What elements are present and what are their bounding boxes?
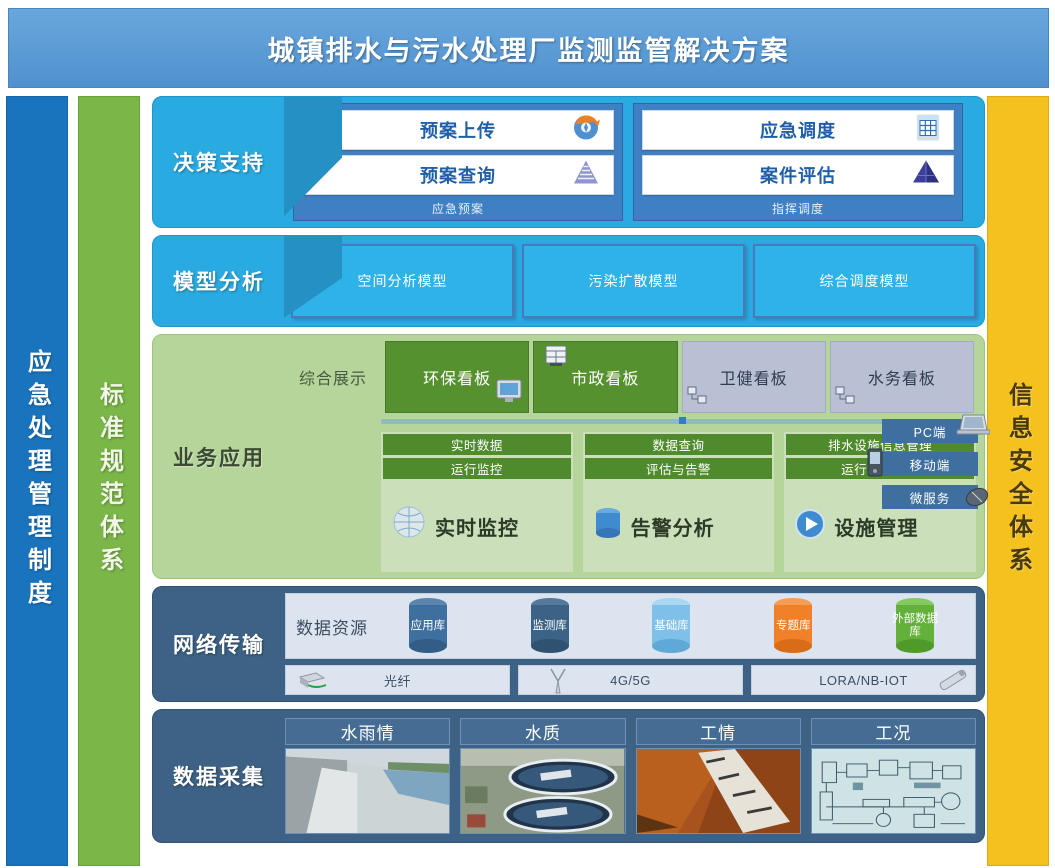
business-chip[interactable]: 评估与告警: [585, 458, 773, 479]
layer-stack: 决策支持 预案上传: [152, 96, 985, 866]
model-item-label: 污染扩散模型: [589, 271, 679, 291]
dashboard-tab-label: 综合展示: [299, 365, 367, 389]
window-icon: [544, 344, 568, 373]
pillar-emergency-management: 应急处理管理制度: [6, 96, 68, 866]
layer-decision-support-label: 决策支持: [153, 147, 285, 177]
database-label: 监测库: [532, 620, 567, 633]
acquisition-card-label: 水雨情: [285, 718, 450, 745]
mouse-icon: [962, 483, 992, 512]
business-card-title: 告警分析: [631, 512, 715, 541]
transport-label: 光纤: [384, 671, 411, 690]
pillar-standard-system: 标准规范体系: [78, 96, 140, 866]
business-chip[interactable]: 运行监控: [383, 458, 571, 479]
decision-group-emergency-plan: 预案上传 预案查询: [293, 103, 623, 221]
dashboard-tab-label: 卫健看板: [720, 365, 788, 389]
globe-icon: [389, 505, 429, 548]
dashboard-tab-label: 市政看板: [571, 365, 639, 389]
business-card-main[interactable]: 实时监控: [383, 482, 571, 570]
database-label: 外部数据库: [889, 613, 941, 639]
scada-schematic-photo: [811, 748, 976, 834]
pillar-emergency-label: 应急处理管理制度: [20, 349, 55, 613]
play-icon: [792, 506, 828, 547]
calendar-grid-icon: [915, 113, 941, 148]
model-item-pollution-diffusion[interactable]: 污染扩散模型: [522, 244, 745, 318]
pyramid-light-icon: [571, 159, 601, 192]
network-icon: [835, 386, 855, 409]
layer-network-transmission: 网络传输 数据资源 应用库: [152, 586, 985, 702]
laptop-icon: [956, 413, 990, 442]
terminal-chip-list: PC端 移动端: [882, 419, 978, 509]
decision-item-plan-query[interactable]: 预案查询: [302, 155, 614, 195]
transport-lora-nbiot[interactable]: LORA/NB-IOT: [751, 665, 976, 695]
acquisition-card-label: 水质: [460, 718, 625, 745]
acquisition-card-water-quality[interactable]: 水质: [460, 718, 625, 834]
dashboard-tab-water[interactable]: 水务看板: [830, 341, 974, 413]
acquisition-card-rainfall[interactable]: 水雨情: [285, 718, 450, 834]
decision-group-footer: 指挥调度: [642, 200, 954, 218]
pyramid-dark-icon: [911, 159, 941, 192]
business-card-title: 设施管理: [834, 512, 918, 541]
decision-item-label: 案件评估: [760, 162, 836, 188]
pillar-security-label: 信息安全体系: [1001, 382, 1036, 580]
layer-data-acquisition: 数据采集 水雨情: [152, 709, 985, 843]
fiber-optic-icon: [296, 669, 328, 696]
decision-item-label: 预案查询: [420, 162, 496, 188]
transport-label: LORA/NB-IOT: [819, 673, 908, 688]
model-item-integrated-dispatch[interactable]: 综合调度模型: [753, 244, 976, 318]
canal-embankment-photo: [285, 748, 450, 834]
decision-item-label: 预案上传: [420, 117, 496, 143]
transport-label: 4G/5G: [610, 673, 651, 688]
model-body: 空间分析模型 污染扩散模型 综合调度模型: [285, 236, 984, 326]
database-list: 应用库 监测库: [378, 596, 965, 656]
antenna-icon: [547, 667, 569, 698]
terminal-chip-label: 移动端: [910, 455, 951, 474]
decision-item-case-assessment[interactable]: 案件评估: [642, 155, 954, 195]
business-chip[interactable]: 实时数据: [383, 434, 571, 455]
business-card-title: 实时监控: [435, 512, 519, 541]
terminal-chip-mobile[interactable]: 移动端: [882, 452, 978, 476]
architecture-diagram: 城镇排水与污水处理厂监测监管解决方案 应急处理管理制度 标准规范体系 信息安全体…: [0, 0, 1055, 868]
transport-4g5g[interactable]: 4G/5G: [518, 665, 743, 695]
dashboard-tab-label: 环保看板: [423, 365, 491, 389]
decision-item-label: 应急调度: [760, 117, 836, 143]
dashboard-tab-list: 综合展示 环保看板: [285, 341, 976, 413]
decision-item-plan-upload[interactable]: 预案上传: [302, 110, 614, 150]
model-item-spatial[interactable]: 空间分析模型: [291, 244, 514, 318]
terminal-chip-label: 微服务: [910, 488, 951, 507]
database-thematic[interactable]: 专题库: [767, 596, 819, 656]
dashboard-tab-label: 水务看板: [868, 365, 936, 389]
decision-item-emergency-dispatch[interactable]: 应急调度: [642, 110, 954, 150]
page-title: 城镇排水与污水处理厂监测监管解决方案: [268, 29, 790, 68]
database-icon: [591, 505, 625, 548]
database-label: 基础库: [654, 620, 689, 633]
database-label: 应用库: [411, 620, 446, 633]
acquisition-card-operating-condition[interactable]: 工况: [811, 718, 976, 834]
network-icon: [687, 386, 707, 409]
model-list: 空间分析模型 污染扩散模型 综合调度模型: [291, 244, 976, 318]
terminal-chip-microservice[interactable]: 微服务: [882, 485, 978, 509]
pillar-standard-label: 标准规范体系: [92, 382, 127, 580]
transport-fiber[interactable]: 光纤: [285, 665, 510, 695]
layer-data-acquisition-label: 数据采集: [153, 761, 285, 791]
network-body: 数据资源 应用库: [285, 587, 984, 701]
database-app[interactable]: 应用库: [402, 596, 454, 656]
sensor-icon: [935, 666, 971, 697]
sewage-clarifier-photo: [460, 748, 625, 834]
data-resource-row: 数据资源 应用库: [285, 593, 976, 659]
acquisition-card-list: 水雨情: [285, 718, 976, 834]
database-basic[interactable]: 基础库: [645, 596, 697, 656]
business-chip[interactable]: 数据查询: [585, 434, 773, 455]
dashboard-tab-municipal[interactable]: 市政看板: [533, 341, 677, 413]
dashboard-tab-health[interactable]: 卫健看板: [682, 341, 826, 413]
dashboard-tab-overview[interactable]: 综合展示: [285, 341, 381, 413]
decision-body: 预案上传 预案查询: [285, 97, 984, 227]
dashboard-tab-environment[interactable]: 环保看板: [385, 341, 529, 413]
decision-group-footer: 应急预案: [302, 200, 614, 218]
terminal-chip-pc[interactable]: PC端: [882, 419, 978, 443]
database-label: 专题库: [776, 620, 811, 633]
layer-model-analysis: 模型分析 空间分析模型 污染扩散模型 综合调度模型: [152, 235, 985, 327]
pipeline-trench-photo: [636, 748, 801, 834]
layer-decision-support: 决策支持 预案上传: [152, 96, 985, 228]
acquisition-body: 水雨情: [285, 710, 984, 842]
business-body: 综合展示 环保看板: [285, 335, 984, 578]
acquisition-card-label: 工况: [811, 718, 976, 745]
database-monitoring[interactable]: 监测库: [524, 596, 576, 656]
recycle-globe-icon: [571, 113, 601, 148]
model-item-label: 空间分析模型: [358, 271, 448, 291]
business-card-main[interactable]: 告警分析: [585, 482, 773, 570]
layer-business-application: 业务应用 综合展示 环保看板: [152, 334, 985, 579]
transport-list: 光纤 4G/5G LORA/NB-I: [285, 665, 976, 695]
model-item-label: 综合调度模型: [820, 271, 910, 291]
pillar-information-security: 信息安全体系: [987, 96, 1049, 866]
decision-group-command-dispatch: 应急调度 案件评估: [633, 103, 963, 221]
layer-business-application-label: 业务应用: [153, 442, 285, 472]
database-external[interactable]: 外部数据库: [889, 596, 941, 656]
acquisition-card-project-status[interactable]: 工情: [636, 718, 801, 834]
layer-model-analysis-label: 模型分析: [153, 266, 285, 296]
terminal-chip-label: PC端: [914, 422, 947, 441]
acquisition-card-label: 工情: [636, 718, 801, 745]
page-header: 城镇排水与污水处理厂监测监管解决方案: [8, 8, 1049, 88]
business-card-alarm-analysis: 数据查询 评估与告警 告警分析: [583, 432, 775, 572]
layer-network-transmission-label: 网络传输: [153, 629, 285, 659]
monitor-icon: [496, 379, 522, 408]
mobile-phone-icon: [866, 448, 884, 481]
business-card-realtime-monitoring: 实时数据 运行监控 实时监控: [381, 432, 573, 572]
data-resource-label: 数据资源: [296, 614, 368, 639]
